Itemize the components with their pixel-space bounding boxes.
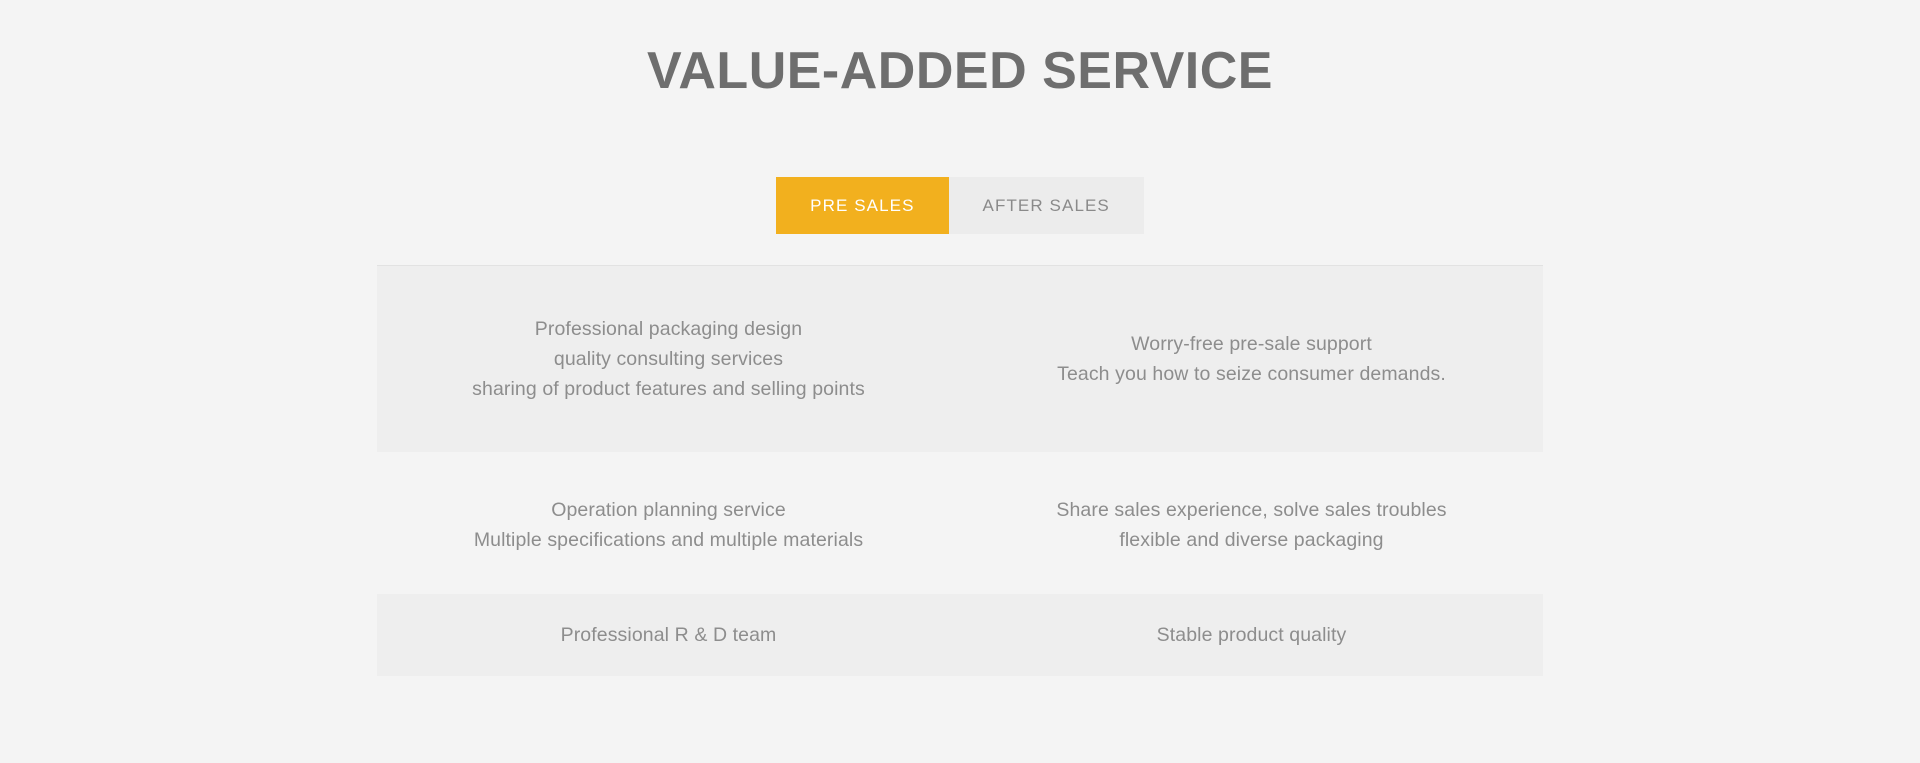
table-cell-left: Professional packaging design quality co… xyxy=(377,266,960,452)
service-text-line: Multiple specifications and multiple mat… xyxy=(474,525,863,555)
service-text-block: Worry-free pre-sale support Teach you ho… xyxy=(1057,329,1446,389)
service-table: Professional packaging design quality co… xyxy=(377,265,1543,676)
table-cell-left: Professional R & D team xyxy=(377,594,960,676)
service-text-line: Worry-free pre-sale support xyxy=(1057,329,1446,359)
tab-bar: PRE SALES AFTER SALES xyxy=(0,177,1920,234)
service-text-block: Stable product quality xyxy=(1157,620,1347,650)
service-text-block: Share sales experience, solve sales trou… xyxy=(1056,495,1446,555)
service-text-line: Share sales experience, solve sales trou… xyxy=(1056,495,1446,525)
table-cell-right: Share sales experience, solve sales trou… xyxy=(960,455,1543,594)
table-row: Operation planning service Multiple spec… xyxy=(377,455,1543,594)
service-text-line: flexible and diverse packaging xyxy=(1056,525,1446,555)
service-text-line: Operation planning service xyxy=(474,495,863,525)
table-cell-right: Worry-free pre-sale support Teach you ho… xyxy=(960,266,1543,452)
tab-pre-sales[interactable]: PRE SALES xyxy=(776,177,948,234)
page-title: VALUE-ADDED SERVICE xyxy=(0,40,1920,102)
service-text-line: Stable product quality xyxy=(1157,620,1347,650)
service-text-block: Professional R & D team xyxy=(561,620,777,650)
service-text-line: Teach you how to seize consumer demands. xyxy=(1057,359,1446,389)
service-text-line: sharing of product features and selling … xyxy=(472,374,865,404)
service-text-line: quality consulting services xyxy=(472,344,865,374)
service-text-line: Professional R & D team xyxy=(561,620,777,650)
service-text-line: Professional packaging design xyxy=(472,314,865,344)
table-cell-right: Stable product quality xyxy=(960,594,1543,676)
table-row: Professional R & D team Stable product q… xyxy=(377,594,1543,676)
service-text-block: Operation planning service Multiple spec… xyxy=(474,495,863,555)
table-cell-left: Operation planning service Multiple spec… xyxy=(377,455,960,594)
service-text-block: Professional packaging design quality co… xyxy=(472,314,865,404)
tab-after-sales[interactable]: AFTER SALES xyxy=(949,177,1144,234)
table-row: Professional packaging design quality co… xyxy=(377,266,1543,452)
value-added-service-section: VALUE-ADDED SERVICE PRE SALES AFTER SALE… xyxy=(0,0,1920,763)
